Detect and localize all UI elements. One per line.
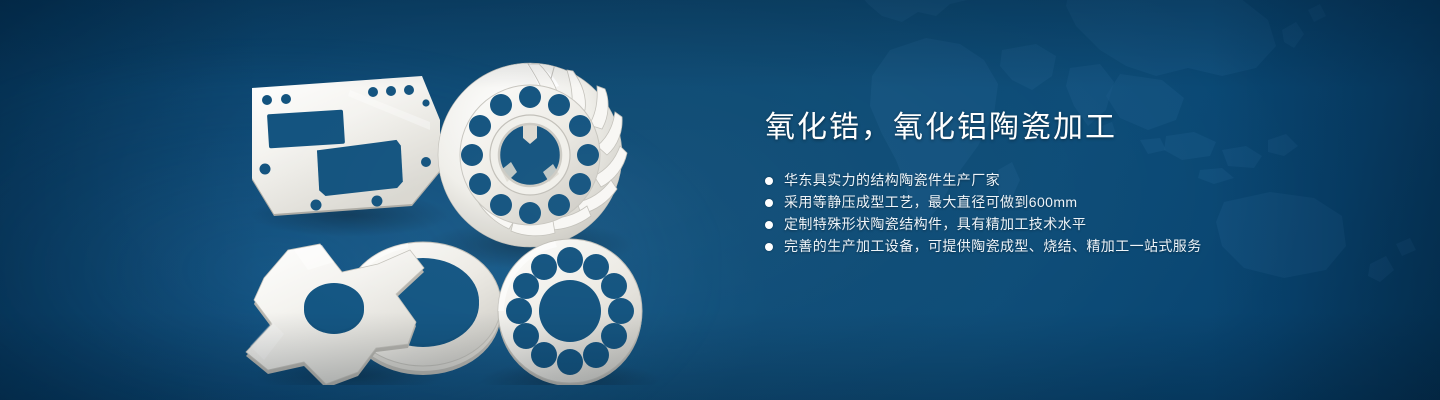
banner-headline: 氧化锆，氧化铝陶瓷加工 xyxy=(765,108,1385,148)
list-item: 完善的生产加工设备，可提供陶瓷成型、烧结、精加工一站式服务 xyxy=(765,236,1385,257)
bullet-dot-icon xyxy=(765,177,773,185)
list-item: 采用等静压成型工艺，最大直径可做到600mm xyxy=(765,192,1385,213)
banner-text-block: 氧化锆，氧化铝陶瓷加工 华东具实力的结构陶瓷件生产厂家 采用等静压成型工艺，最大… xyxy=(765,108,1385,258)
bullet-dot-icon xyxy=(765,199,773,207)
bullet-dot-icon xyxy=(765,243,773,251)
hero-banner: 氧化锆，氧化铝陶瓷加工 华东具实力的结构陶瓷件生产厂家 采用等静压成型工艺，最大… xyxy=(0,0,1440,400)
feature-text: 采用等静压成型工艺，最大直径可做到600mm xyxy=(784,192,1077,213)
list-item: 定制特殊形状陶瓷结构件，具有精加工技术水平 xyxy=(765,214,1385,235)
list-item: 华东具实力的结构陶瓷件生产厂家 xyxy=(765,170,1385,191)
feature-text: 定制特殊形状陶瓷结构件，具有精加工技术水平 xyxy=(784,214,1086,235)
feature-list: 华东具实力的结构陶瓷件生产厂家 采用等静压成型工艺，最大直径可做到600mm 定… xyxy=(765,170,1385,257)
feature-text: 完善的生产加工设备，可提供陶瓷成型、烧结、精加工一站式服务 xyxy=(784,236,1202,257)
bullet-dot-icon xyxy=(765,221,773,229)
feature-text: 华东具实力的结构陶瓷件生产厂家 xyxy=(784,170,1000,191)
